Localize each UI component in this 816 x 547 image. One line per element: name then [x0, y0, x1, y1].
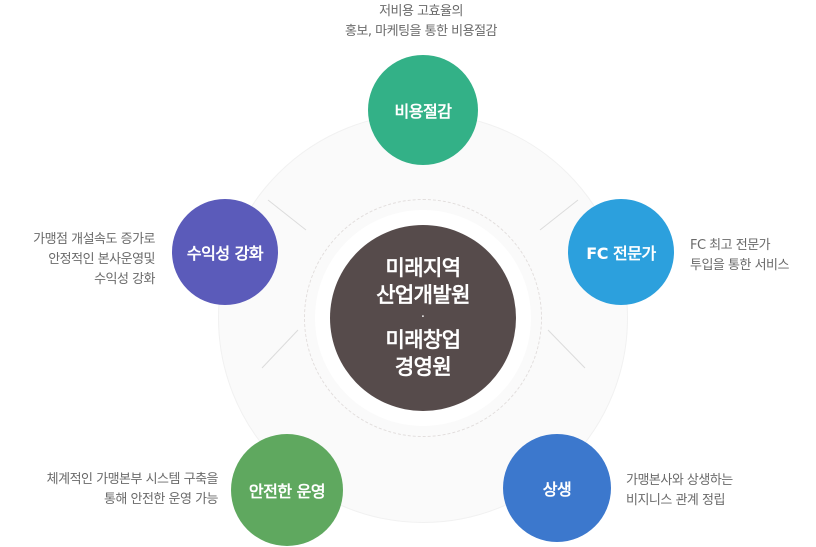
- center-title-line1: 미래지역 산업개발원: [376, 255, 470, 309]
- node-profitability-label: 수익성 강화: [187, 240, 263, 264]
- caption-cost-saving: 저비용 고효율의 홍보, 마케팅을 통한 비용절감: [296, 2, 546, 42]
- node-safe-operation-label: 안전한 운영: [249, 478, 325, 502]
- center-title-line2: 미래창업 경영원: [376, 327, 470, 381]
- node-mutual-growth[interactable]: 상생: [503, 434, 611, 542]
- caption-fc-expert: FC 최고 전문가 투입을 통한 서비스: [690, 236, 816, 276]
- node-mutual-growth-label: 상생: [543, 476, 571, 500]
- node-safe-operation[interactable]: 안전한 운영: [231, 434, 343, 546]
- node-profitability[interactable]: 수익성 강화: [172, 199, 278, 305]
- node-fc-expert-label: FC 전문가: [586, 240, 655, 264]
- caption-safe-operation: 체계적인 가맹본부 시스템 구축을 통해 안전한 운영 가능: [0, 470, 218, 510]
- caption-mutual-growth: 가맹본사와 상생하는 비지니스 관계 정립: [626, 471, 806, 511]
- center-separator: ·: [376, 311, 470, 324]
- node-cost-saving[interactable]: 비용절감: [368, 55, 478, 165]
- node-fc-expert[interactable]: FC 전문가: [568, 199, 674, 305]
- caption-profitability: 가맹점 개설속도 증가로 안정적인 본사운영및 수익성 강화: [0, 230, 155, 289]
- node-cost-saving-label: 비용절감: [395, 98, 452, 122]
- center-circle: 미래지역 산업개발원 · 미래창업 경영원: [330, 225, 516, 411]
- capability-circle-diagram: 미래지역 산업개발원 · 미래창업 경영원 비용절감 저비용 고효율의 홍보, …: [0, 0, 816, 547]
